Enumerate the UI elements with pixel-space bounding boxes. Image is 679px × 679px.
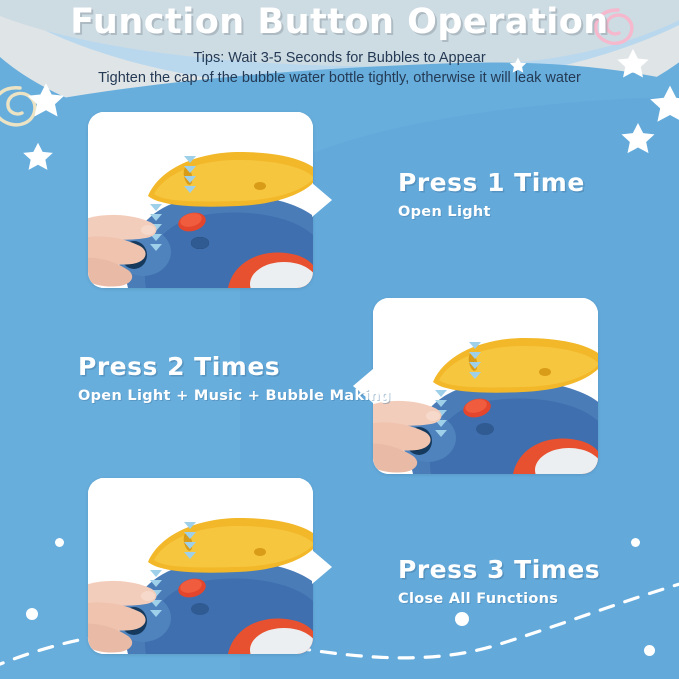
page-title: Function Button Operation: [0, 2, 679, 42]
star-decoration: [20, 140, 56, 176]
tips-text: Tips: Wait 3-5 Seconds for Bubbles to Ap…: [0, 48, 679, 88]
product-photo: [88, 112, 313, 288]
step-photo-2: [373, 298, 598, 474]
step-heading: Press 1 Time: [398, 168, 585, 197]
step-heading: Press 3 Times: [398, 555, 600, 584]
step-subheading: Close All Functions: [398, 591, 600, 607]
step-photo-3: [88, 478, 313, 654]
step-subheading: Open Light + Music + Bubble Making: [78, 388, 391, 404]
star-decoration: [618, 120, 658, 160]
step-caption-3: Press 3 Times Close All Functions: [398, 555, 600, 607]
step-heading: Press 2 Times: [78, 352, 391, 381]
step-subheading: Open Light: [398, 204, 585, 220]
step-caption-1: Press 1 Time Open Light: [398, 168, 585, 220]
product-photo: [373, 298, 598, 474]
tips-line-1: Tips: Wait 3-5 Seconds for Bubbles to Ap…: [0, 48, 679, 68]
step-caption-2: Press 2 Times Open Light + Music + Bubbl…: [78, 352, 391, 404]
step-photo-1: [88, 112, 313, 288]
infographic-canvas: Function Button Operation Tips: Wait 3-5…: [0, 0, 679, 679]
tips-line-2: Tighten the cap of the bubble water bott…: [0, 68, 679, 88]
product-photo: [88, 478, 313, 654]
callout-pointer-3: [312, 550, 332, 584]
callout-pointer-1: [312, 183, 332, 217]
